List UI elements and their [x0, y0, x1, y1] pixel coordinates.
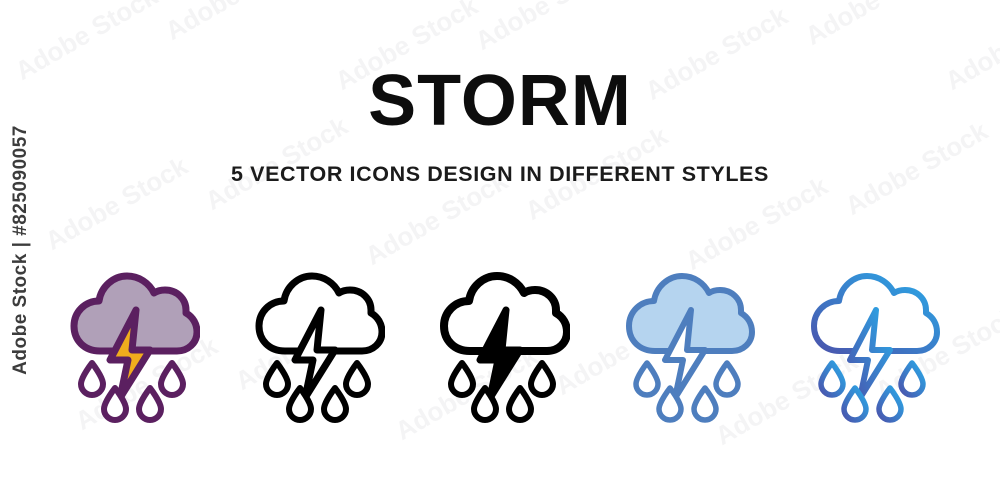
storm-icon-glyph-black[interactable]	[425, 255, 585, 430]
raindrop	[139, 388, 161, 420]
storm-icon-filled-outline-purple[interactable]	[55, 255, 215, 430]
stock-credit-text: Adobe Stock | #825090057	[10, 125, 32, 375]
page-subtitle: 5 VECTOR ICONS DESIGN IN DIFFERENT STYLE…	[0, 162, 1000, 186]
storm-icon-outline-black[interactable]	[240, 255, 400, 430]
stock-credit-vertical: Adobe Stock | #825090057	[4, 0, 38, 500]
raindrop	[324, 388, 346, 420]
page-title: STORM	[0, 62, 1000, 140]
raindrop	[694, 388, 716, 420]
raindrop	[346, 363, 368, 395]
storm-icon-svg	[625, 263, 755, 423]
raindrop	[821, 363, 843, 395]
raindrop	[451, 363, 473, 395]
raindrop	[901, 363, 923, 395]
storm-icon-svg	[70, 263, 200, 423]
storm-icon-svg	[255, 263, 385, 423]
raindrop	[266, 363, 288, 395]
storm-icon-gradient-outline[interactable]	[795, 255, 955, 430]
storm-icon-svg	[440, 263, 570, 423]
raindrop	[161, 363, 183, 395]
raindrop	[509, 388, 531, 420]
raindrop	[716, 363, 738, 395]
raindrop	[81, 363, 103, 395]
raindrop	[636, 363, 658, 395]
header: STORM 5 VECTOR ICONS DESIGN IN DIFFERENT…	[0, 62, 1000, 186]
icon-set-page: Adobe Stock | #825090057 STORM 5 VECTOR …	[0, 0, 1000, 500]
raindrop	[879, 388, 901, 420]
icon-row	[55, 255, 955, 430]
storm-icon-filled-outline-blue[interactable]	[610, 255, 770, 430]
storm-icon-svg	[810, 263, 940, 423]
raindrop	[531, 363, 553, 395]
